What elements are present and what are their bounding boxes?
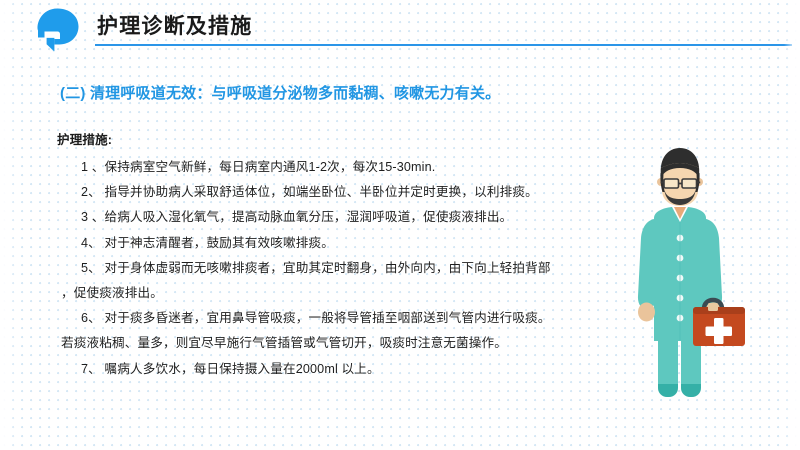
section-subtitle: (二) 清理呼吸道无效：与呼吸道分泌物多而黏稠、咳嗽无力有关。: [60, 82, 500, 103]
measures-heading: 护理措施:: [57, 129, 112, 148]
list-item: 6、 对于痰多昏迷者，宜用鼻导管吸痰，一般将导管插至咽部送到气管内进行吸痰。: [57, 306, 677, 331]
list-item: 5、 对于身体虚弱而无咳嗽排痰者，宜助其定时翻身，由外向内，由下向上轻拍背部: [57, 256, 677, 281]
right-edge-fade: [784, 0, 800, 450]
slide-header: 护理诊断及措施: [0, 0, 800, 56]
speech-bubble-icon: [33, 7, 81, 53]
list-item: 1 、保持病室空气新鲜，每日病室内通风1-2次，每次15-30min.: [57, 155, 677, 180]
doctor-illustration: [600, 146, 770, 402]
list-item: 7、 嘱病人多饮水，每日保持摄入量在2000ml 以上。: [57, 357, 677, 382]
slide-canvas: 护理诊断及措施 (二) 清理呼吸道无效：与呼吸道分泌物多而黏稠、咳嗽无力有关。 …: [0, 0, 800, 450]
list-item-continuation: 若痰液粘稠、量多，则宜尽早施行气管插管或气管切开，吸痰时注意无菌操作。: [57, 331, 677, 356]
header-divider: [95, 44, 792, 46]
page-title: 护理诊断及措施: [97, 10, 252, 40]
left-edge-fade: [0, 0, 16, 450]
measures-list: 1 、保持病室空气新鲜，每日病室内通风1-2次，每次15-30min. 2、 指…: [57, 155, 677, 382]
list-item: 4、 对于神志清醒者，鼓励其有效咳嗽排痰。: [57, 231, 677, 256]
list-item-continuation: ，促使痰液排出。: [57, 281, 677, 306]
list-item: 2、 指导并协助病人采取舒适体位，如端坐卧位、半卧位并定时更换，以利排痰。: [57, 180, 677, 205]
list-item: 3 、给病人吸入湿化氧气，提高动脉血氧分压，湿润呼吸道，促使痰液排出。: [57, 205, 677, 230]
